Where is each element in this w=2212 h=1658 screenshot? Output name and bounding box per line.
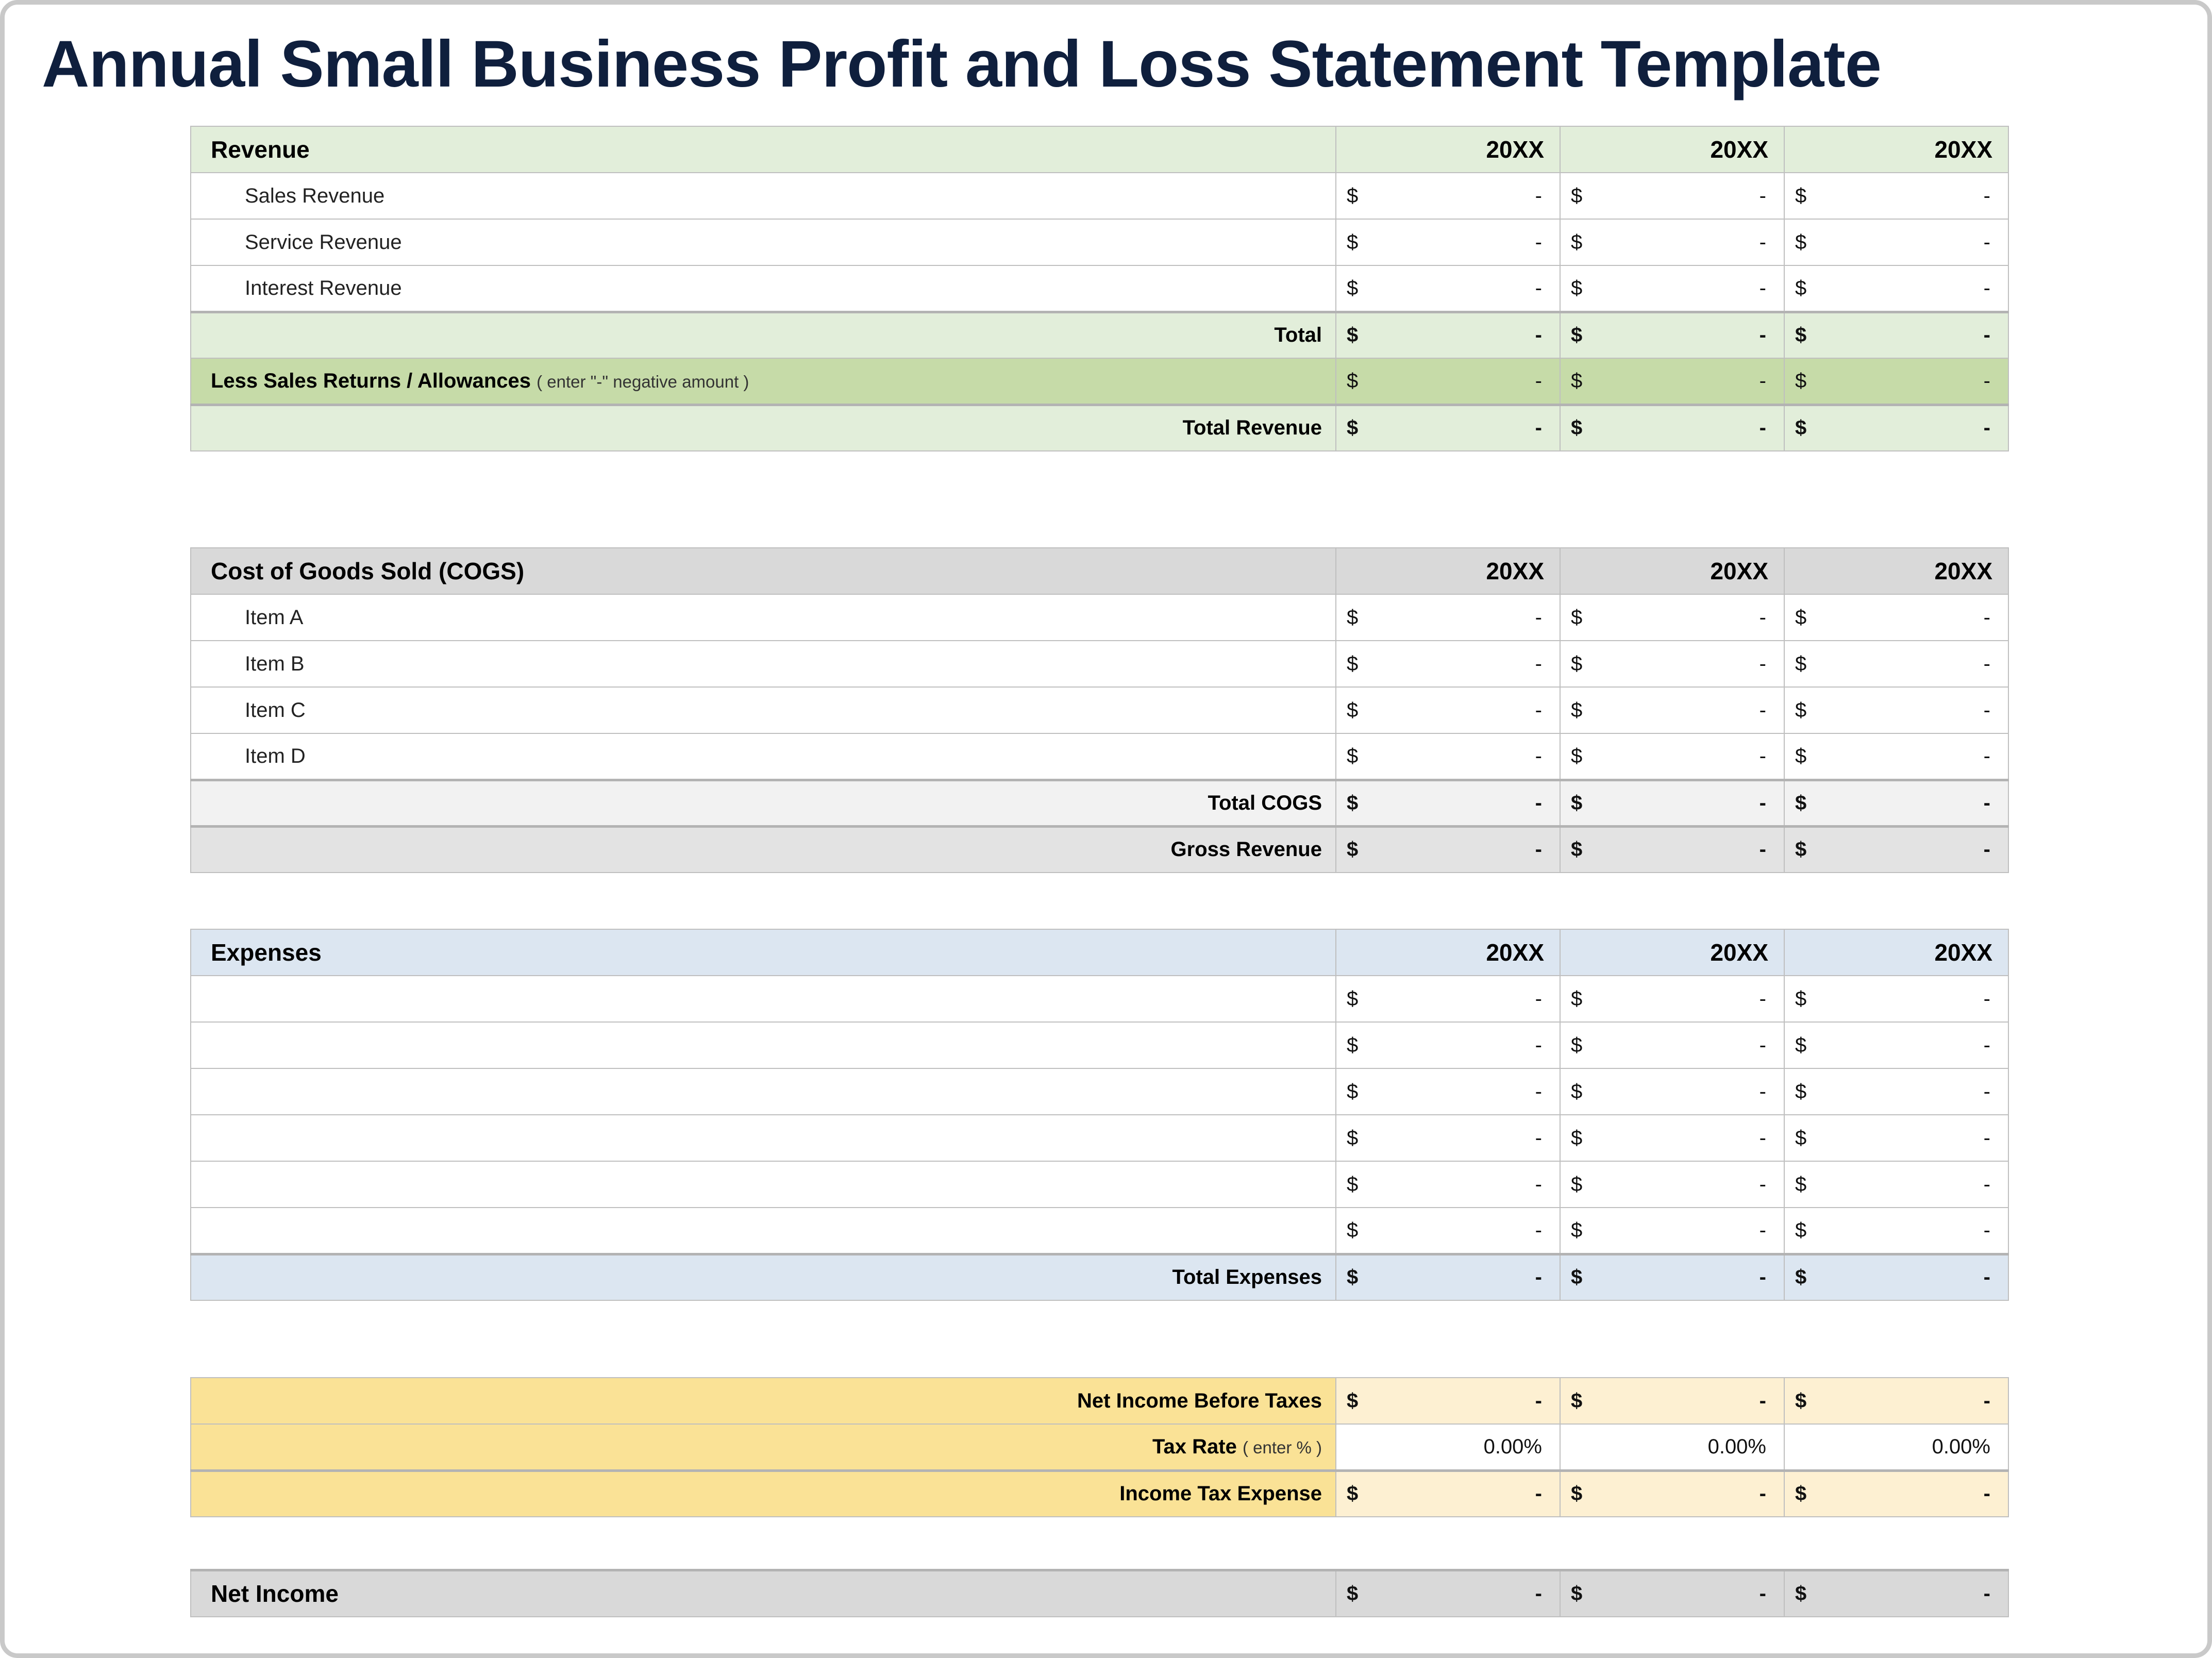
expense-item-value[interactable]: $- [1560,1208,1784,1254]
year-label: 20XX [1785,557,2008,585]
total-cogs-value: $- [1784,780,2008,826]
cogs-section-header: Cost of Goods Sold (COGS) [191,548,1336,594]
currency-symbol: $ [1347,699,1358,722]
amount-value: - [1535,416,1542,440]
revenue-item-cell[interactable]: Service Revenue [191,219,1336,265]
expense-item-value[interactable]: $- [1336,976,1560,1022]
amount-value: - [1759,838,1766,861]
table-row: Service Revenue $- $- $- [191,219,2008,265]
total-revenue-label: Total Revenue [191,416,1335,440]
year-label: 20XX [1336,136,1560,163]
amount-value: - [1535,324,1542,347]
cogs-table: Cost of Goods Sold (COGS) 20XX 20XX 20XX… [190,547,2009,873]
table-row: Interest Revenue $- $- $- [191,265,2008,312]
revenue-section-title: Revenue [191,136,1335,163]
currency-symbol: $ [1347,370,1358,393]
revenue-total-label: Total [191,324,1335,347]
net-income-label-cell: Net Income [191,1570,1336,1617]
cogs-item-value[interactable]: $- [1784,733,2008,780]
currency-symbol: $ [1795,324,1806,347]
amount-value: - [1759,1389,1766,1413]
currency-symbol: $ [1571,1219,1582,1242]
amount-value: - [1984,1582,1990,1605]
expenses-section-header: Expenses [191,929,1336,976]
tax-rate-input[interactable]: 0.00% [1336,1424,1560,1470]
revenue-item-cell[interactable]: Sales Revenue [191,173,1336,219]
net-before-label: Net Income Before Taxes [191,1389,1335,1413]
currency-symbol: $ [1347,185,1358,208]
expense-item-cell[interactable] [191,1022,1336,1068]
amount-value: - [1535,699,1542,722]
currency-symbol: $ [1347,745,1358,768]
cogs-year-col-2: 20XX [1560,548,1784,594]
revenue-year-col-2: 20XX [1560,126,1784,173]
cogs-item-value[interactable]: $- [1336,594,1560,641]
currency-symbol: $ [1347,416,1358,440]
revenue-table: Revenue 20XX 20XX 20XX Sales Revenue $- … [190,126,2009,451]
total-cogs-value: $- [1336,780,1560,826]
currency-symbol: $ [1571,370,1582,393]
expense-item-value[interactable]: $- [1560,1022,1784,1068]
less-returns-title: Less Sales Returns / Allowances [211,370,531,392]
revenue-item-value[interactable]: $- [1784,219,2008,265]
amount-value: - [1759,1482,1766,1505]
currency-symbol: $ [1795,1034,1806,1057]
expenses-section-title: Expenses [191,939,1335,966]
currency-symbol: $ [1795,185,1806,208]
total-revenue-row: Total Revenue $- $- $- [191,405,2008,451]
revenue-item-value[interactable]: $- [1784,265,2008,312]
cogs-item-cell[interactable]: Item C [191,687,1336,733]
total-revenue-value: $- [1560,405,1784,451]
table-row: $- $- $- [191,1068,2008,1115]
table-row: Item B $- $- $- [191,641,2008,687]
amount-value: - [1759,1127,1766,1150]
amount-value: - [1535,1034,1542,1057]
currency-symbol: $ [1347,1034,1358,1057]
currency-symbol: $ [1347,1080,1358,1103]
amount-value: - [1984,606,1990,629]
amount-value: - [1759,1080,1766,1103]
amount-value: - [1535,745,1542,768]
amount-value: - [1759,324,1766,347]
amount-value: - [1535,1219,1542,1242]
currency-symbol: $ [1795,1219,1806,1242]
taxes-table: Net Income Before Taxes $- $- $- Tax Rat… [190,1377,2009,1517]
currency-symbol: $ [1347,1389,1358,1413]
income-tax-value: $- [1336,1470,1560,1517]
currency-symbol: $ [1795,231,1806,254]
tax-rate-label-cell: Tax Rate ( enter % ) [191,1424,1336,1470]
table-row: Item C $- $- $- [191,687,2008,733]
less-returns-value[interactable]: $- [1560,358,1784,405]
amount-value: - [1759,231,1766,254]
currency-symbol: $ [1795,370,1806,393]
cogs-section-title: Cost of Goods Sold (COGS) [191,557,1335,585]
less-returns-hint: ( enter "-" negative amount ) [537,372,749,391]
currency-symbol: $ [1571,1389,1582,1413]
currency-symbol: $ [1571,745,1582,768]
amount-value: - [1535,1582,1542,1605]
amount-value: - [1535,1127,1542,1150]
expenses-table: Expenses 20XX 20XX 20XX $- $- $- $- $- $… [190,929,2009,1301]
amount-value: - [1535,1389,1542,1413]
amount-value: - [1759,1219,1766,1242]
expenses-year-col-1: 20XX [1336,929,1560,976]
less-returns-value[interactable]: $- [1336,358,1560,405]
cogs-item-value[interactable]: $- [1560,733,1784,780]
revenue-item-value[interactable]: $- [1560,219,1784,265]
currency-symbol: $ [1795,1582,1806,1605]
total-expenses-value: $- [1560,1254,1784,1300]
expense-item-value[interactable]: $- [1784,976,2008,1022]
revenue-item-value[interactable]: $- [1560,265,1784,312]
currency-symbol: $ [1347,324,1358,347]
expense-item-value[interactable]: $- [1784,1115,2008,1161]
currency-symbol: $ [1571,231,1582,254]
currency-symbol: $ [1795,838,1806,861]
amount-value: - [1759,185,1766,208]
year-label: 20XX [1561,557,1784,585]
expense-item-value[interactable]: $- [1784,1068,2008,1115]
table-row: Item A $- $- $- [191,594,2008,641]
total-expenses-label-cell: Total Expenses [191,1254,1336,1300]
amount-value: - [1984,1219,1990,1242]
cogs-item-cell[interactable]: Item D [191,733,1336,780]
amount-value: - [1984,370,1990,393]
amount-value: - [1535,185,1542,208]
currency-symbol: $ [1795,1127,1806,1150]
currency-symbol: $ [1571,1173,1582,1196]
net-income-row: Net Income $- $- $- [191,1570,2008,1617]
currency-symbol: $ [1795,745,1806,768]
tax-rate-label: Tax Rate ( enter % ) [191,1435,1335,1459]
amount-value: - [1984,416,1990,440]
currency-symbol: $ [1347,987,1358,1011]
less-returns-value[interactable]: $- [1784,358,2008,405]
total-expenses-value: $- [1784,1254,2008,1300]
net-income-value: $- [1560,1570,1784,1617]
total-expenses-row: Total Expenses $- $- $- [191,1254,2008,1300]
year-label: 20XX [1785,939,2008,966]
tax-rate-hint: ( enter % ) [1243,1438,1322,1457]
amount-value: - [1759,652,1766,676]
revenue-year-col-3: 20XX [1784,126,2008,173]
currency-symbol: $ [1571,699,1582,722]
revenue-year-col-1: 20XX [1336,126,1560,173]
year-label: 20XX [1336,939,1560,966]
cogs-item-value[interactable]: $- [1336,733,1560,780]
amount-value: - [1759,745,1766,768]
currency-symbol: $ [1571,1127,1582,1150]
amount-value: - [1759,1034,1766,1057]
currency-symbol: $ [1571,606,1582,629]
currency-symbol: $ [1347,792,1358,815]
total-cogs-label-cell: Total COGS [191,780,1336,826]
tax-rate-title: Tax Rate [1152,1435,1237,1458]
expense-item-cell[interactable] [191,976,1336,1022]
table-row: $- $- $- [191,1161,2008,1208]
currency-symbol: $ [1795,1482,1806,1505]
amount-value: - [1984,792,1990,815]
less-sales-returns-row: Less Sales Returns / Allowances ( enter … [191,358,2008,405]
tax-rate-input[interactable]: 0.00% [1560,1424,1784,1470]
tax-rate-value: 0.00% [1785,1435,2008,1459]
amount-value: - [1984,185,1990,208]
amount-value: - [1759,370,1766,393]
amount-value: - [1535,1173,1542,1196]
net-income-label: Net Income [191,1580,1335,1607]
amount-value: - [1535,838,1542,861]
currency-symbol: $ [1795,277,1806,300]
gross-revenue-value: $- [1336,826,1560,873]
amount-value: - [1984,1482,1990,1505]
expense-item-value[interactable]: $- [1560,976,1784,1022]
currency-symbol: $ [1347,1219,1358,1242]
revenue-item-value[interactable]: $- [1336,173,1560,219]
cogs-item-value[interactable]: $- [1336,687,1560,733]
expenses-year-col-3: 20XX [1784,929,2008,976]
expense-item-value[interactable]: $- [1336,1115,1560,1161]
currency-symbol: $ [1571,1034,1582,1057]
currency-symbol: $ [1347,1582,1358,1605]
amount-value: - [1535,987,1542,1011]
expense-item-value[interactable]: $- [1784,1022,2008,1068]
amount-value: - [1759,1582,1766,1605]
currency-symbol: $ [1347,606,1358,629]
currency-symbol: $ [1347,652,1358,676]
cogs-year-col-3: 20XX [1784,548,2008,594]
year-label: 20XX [1336,557,1560,585]
cogs-year-col-1: 20XX [1336,548,1560,594]
net-before-value: $- [1560,1378,1784,1424]
tax-rate-input[interactable]: 0.00% [1784,1424,2008,1470]
amount-value: - [1535,277,1542,300]
cogs-item-label: Item B [191,652,1335,676]
expense-item-cell[interactable] [191,1115,1336,1161]
currency-symbol: $ [1571,652,1582,676]
table-row: $- $- $- [191,1115,2008,1161]
table-row: Item D $- $- $- [191,733,2008,780]
currency-symbol: $ [1571,987,1582,1011]
income-tax-label: Income Tax Expense [191,1482,1335,1505]
expense-item-value[interactable]: $- [1784,1161,2008,1208]
tax-rate-value: 0.00% [1561,1435,1784,1459]
amount-value: - [1535,231,1542,254]
amount-value: - [1535,1266,1542,1289]
revenue-item-value[interactable]: $- [1784,173,2008,219]
gross-revenue-label: Gross Revenue [191,838,1335,861]
income-tax-label-cell: Income Tax Expense [191,1470,1336,1517]
less-returns-label-cell: Less Sales Returns / Allowances ( enter … [191,358,1336,405]
currency-symbol: $ [1347,838,1358,861]
amount-value: - [1759,606,1766,629]
amount-value: - [1984,1127,1990,1150]
currency-symbol: $ [1571,1080,1582,1103]
amount-value: - [1984,1080,1990,1103]
expense-item-value[interactable]: $- [1336,1022,1560,1068]
net-income-value: $- [1784,1570,2008,1617]
total-cogs-label: Total COGS [191,792,1335,815]
amount-value: - [1535,1080,1542,1103]
page-title: Annual Small Business Profit and Loss St… [42,26,1881,102]
gross-revenue-value: $- [1560,826,1784,873]
currency-symbol: $ [1347,1266,1358,1289]
amount-value: - [1759,1266,1766,1289]
amount-value: - [1759,987,1766,1011]
currency-symbol: $ [1571,1582,1582,1605]
year-label: 20XX [1785,136,2008,163]
amount-value: - [1535,370,1542,393]
currency-symbol: $ [1571,1482,1582,1505]
page-canvas: Annual Small Business Profit and Loss St… [0,0,2212,1658]
expense-item-value[interactable]: $- [1336,1208,1560,1254]
less-returns-label: Less Sales Returns / Allowances ( enter … [191,370,1335,393]
currency-symbol: $ [1795,416,1806,440]
amount-value: - [1984,745,1990,768]
year-label: 20XX [1561,939,1784,966]
amount-value: - [1535,652,1542,676]
cogs-item-value[interactable]: $- [1784,641,2008,687]
total-expenses-label: Total Expenses [191,1266,1335,1289]
revenue-total-label-cell: Total [191,312,1336,358]
expense-item-value[interactable]: $- [1560,1161,1784,1208]
revenue-item-label: Service Revenue [191,231,1335,254]
currency-symbol: $ [1795,987,1806,1011]
currency-symbol: $ [1571,277,1582,300]
revenue-item-label: Interest Revenue [191,277,1335,300]
currency-symbol: $ [1795,1266,1806,1289]
cogs-item-value[interactable]: $- [1784,687,2008,733]
revenue-section-header: Revenue [191,126,1336,173]
cogs-item-label: Item D [191,745,1335,768]
amount-value: - [1535,606,1542,629]
currency-symbol: $ [1347,1482,1358,1505]
amount-value: - [1984,699,1990,722]
amount-value: - [1759,792,1766,815]
gross-revenue-value: $- [1784,826,2008,873]
expense-item-value[interactable]: $- [1336,1161,1560,1208]
net-income-table: Net Income $- $- $- [190,1569,2009,1617]
revenue-item-value[interactable]: $- [1560,173,1784,219]
total-cogs-row: Total COGS $- $- $- [191,780,2008,826]
expense-item-cell[interactable] [191,1208,1336,1254]
expense-item-value[interactable]: $- [1336,1068,1560,1115]
total-revenue-value: $- [1784,405,2008,451]
currency-symbol: $ [1347,231,1358,254]
currency-symbol: $ [1347,1127,1358,1150]
table-row: $- $- $- [191,976,2008,1022]
revenue-total-value: $- [1560,312,1784,358]
currency-symbol: $ [1571,185,1582,208]
currency-symbol: $ [1795,652,1806,676]
net-income-value: $- [1336,1570,1560,1617]
gross-revenue-label-cell: Gross Revenue [191,826,1336,873]
cogs-item-label: Item C [191,699,1335,722]
total-expenses-value: $- [1336,1254,1560,1300]
net-income-before-taxes-row: Net Income Before Taxes $- $- $- [191,1378,2008,1424]
expenses-header-row: Expenses 20XX 20XX 20XX [191,929,2008,976]
currency-symbol: $ [1571,792,1582,815]
amount-value: - [1984,1034,1990,1057]
net-before-value: $- [1336,1378,1560,1424]
currency-symbol: $ [1795,699,1806,722]
currency-symbol: $ [1795,1173,1806,1196]
currency-symbol: $ [1347,277,1358,300]
expense-item-cell[interactable] [191,1161,1336,1208]
currency-symbol: $ [1571,1266,1582,1289]
amount-value: - [1759,699,1766,722]
amount-value: - [1984,838,1990,861]
income-tax-expense-row: Income Tax Expense $- $- $- [191,1470,2008,1517]
currency-symbol: $ [1795,606,1806,629]
revenue-item-cell[interactable]: Interest Revenue [191,265,1336,312]
currency-symbol: $ [1571,324,1582,347]
cogs-item-cell[interactable]: Item A [191,594,1336,641]
cogs-item-value[interactable]: $- [1336,641,1560,687]
amount-value: - [1984,652,1990,676]
net-before-label-cell: Net Income Before Taxes [191,1378,1336,1424]
revenue-item-value[interactable]: $- [1336,219,1560,265]
cogs-item-value[interactable]: $- [1784,594,2008,641]
cogs-item-cell[interactable]: Item B [191,641,1336,687]
cogs-item-value[interactable]: $- [1560,594,1784,641]
amount-value: - [1984,987,1990,1011]
total-revenue-label-cell: Total Revenue [191,405,1336,451]
income-tax-value: $- [1560,1470,1784,1517]
cogs-header-row: Cost of Goods Sold (COGS) 20XX 20XX 20XX [191,548,2008,594]
expense-item-value[interactable]: $- [1784,1208,2008,1254]
expense-item-value[interactable]: $- [1560,1115,1784,1161]
amount-value: - [1984,231,1990,254]
currency-symbol: $ [1571,416,1582,440]
currency-symbol: $ [1795,792,1806,815]
expenses-year-col-2: 20XX [1560,929,1784,976]
currency-symbol: $ [1347,1173,1358,1196]
amount-value: - [1984,277,1990,300]
revenue-total-value: $- [1336,312,1560,358]
revenue-total-value: $- [1784,312,2008,358]
currency-symbol: $ [1795,1080,1806,1103]
total-cogs-value: $- [1560,780,1784,826]
table-row: $- $- $- [191,1208,2008,1254]
tax-rate-row: Tax Rate ( enter % ) 0.00% 0.00% 0.00% [191,1424,2008,1470]
currency-symbol: $ [1795,1389,1806,1413]
amount-value: - [1535,792,1542,815]
year-label: 20XX [1561,136,1784,163]
total-revenue-value: $- [1336,405,1560,451]
cogs-item-value[interactable]: $- [1560,687,1784,733]
revenue-item-value[interactable]: $- [1336,265,1560,312]
income-tax-value: $- [1784,1470,2008,1517]
amount-value: - [1759,277,1766,300]
cogs-item-value[interactable]: $- [1560,641,1784,687]
expense-item-cell[interactable] [191,1068,1336,1115]
cogs-item-label: Item A [191,606,1335,629]
revenue-item-label: Sales Revenue [191,185,1335,208]
amount-value: - [1759,1173,1766,1196]
net-before-value: $- [1784,1378,2008,1424]
expense-item-value[interactable]: $- [1560,1068,1784,1115]
amount-value: - [1984,1266,1990,1289]
tax-rate-value: 0.00% [1336,1435,1560,1459]
gross-revenue-row: Gross Revenue $- $- $- [191,826,2008,873]
revenue-total-row: Total $- $- $- [191,312,2008,358]
revenue-header-row: Revenue 20XX 20XX 20XX [191,126,2008,173]
table-row: Sales Revenue $- $- $- [191,173,2008,219]
currency-symbol: $ [1571,838,1582,861]
table-row: $- $- $- [191,1022,2008,1068]
